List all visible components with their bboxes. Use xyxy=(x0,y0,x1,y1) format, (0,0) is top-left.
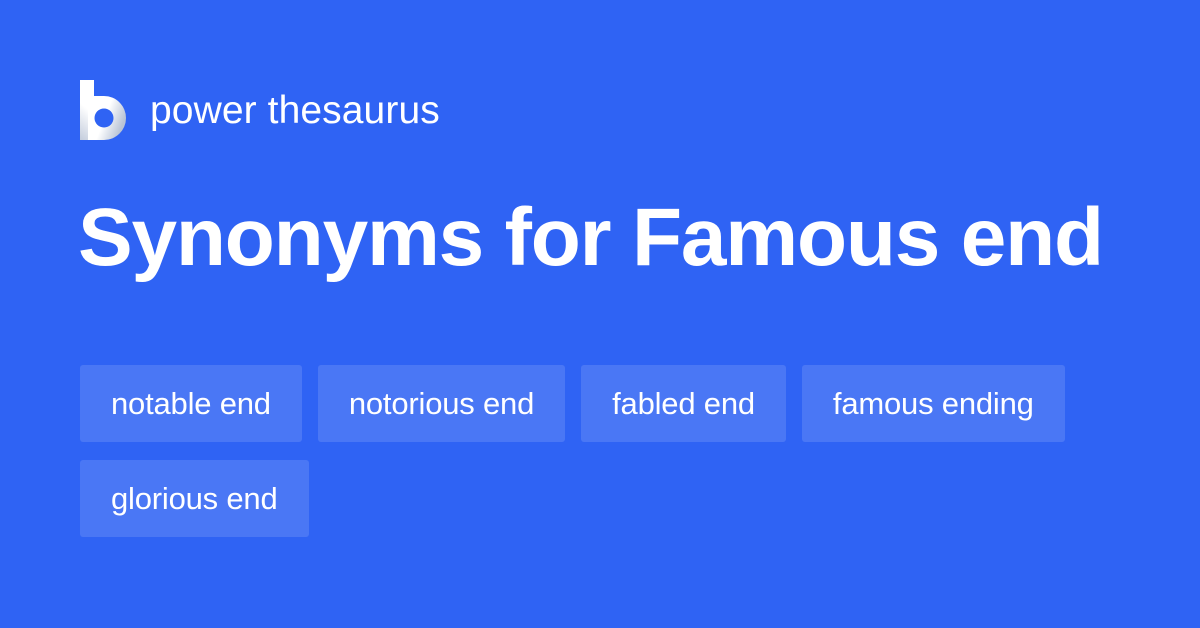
brand-name: power thesaurus xyxy=(150,91,440,130)
synonym-chip[interactable]: notable end xyxy=(80,365,302,442)
page-title: Synonyms for Famous end xyxy=(78,196,1138,280)
synonym-chip-label: famous ending xyxy=(833,388,1034,419)
synonym-chip[interactable]: notorious end xyxy=(318,365,565,442)
share-card: power thesaurus Synonyms for Famous end … xyxy=(0,0,1200,628)
synonym-chip-label: glorious end xyxy=(111,483,278,514)
synonym-chip[interactable]: glorious end xyxy=(80,460,309,537)
synonym-chip-label: notable end xyxy=(111,388,271,419)
brand-logo[interactable]: power thesaurus xyxy=(80,78,440,142)
synonym-list: notable end notorious end fabled end fam… xyxy=(80,365,1140,537)
synonym-chip-label: notorious end xyxy=(349,388,534,419)
synonym-chip[interactable]: famous ending xyxy=(802,365,1065,442)
synonym-chip-label: fabled end xyxy=(612,388,755,419)
power-thesaurus-b-logo-icon xyxy=(80,80,128,140)
synonym-chip[interactable]: fabled end xyxy=(581,365,786,442)
